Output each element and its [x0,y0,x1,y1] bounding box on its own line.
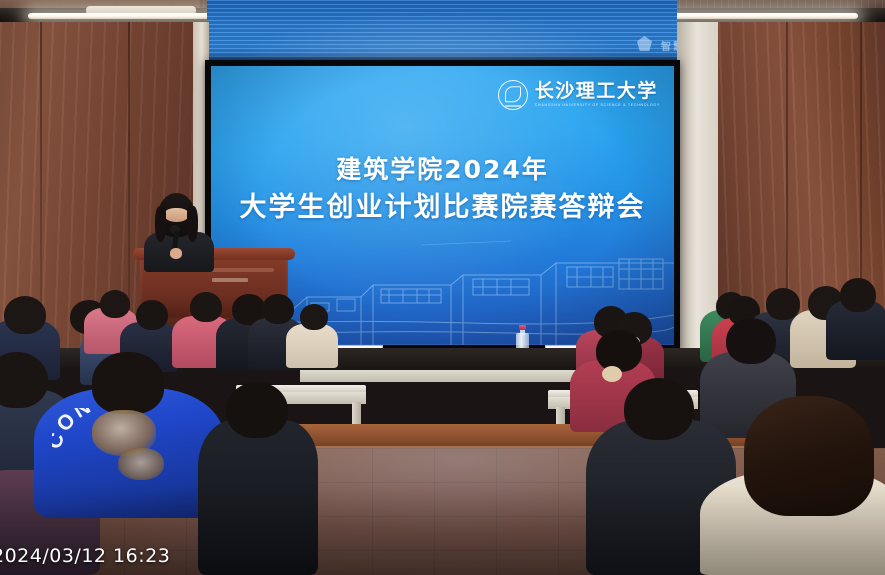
podium-plate [212,278,248,282]
audience-head [4,296,46,334]
university-name-en: CHANGSHA UNIVERSITY OF SCIENCE & TECHNOL… [535,104,660,108]
lecture-hall-photo: 智慧教室 [0,0,885,575]
timestamp-watermark: 2024/03/12 16:23 [0,545,170,567]
presenter-hair-left [155,206,166,242]
slide-title-line1: 建筑学院2024年 [211,154,674,186]
university-logo: 长沙理工大学 CHANGSHA UNIVERSITY OF SCIENCE & … [498,79,660,111]
audience-head [190,292,222,322]
bottle-cap [519,325,526,330]
audience-head [92,352,164,414]
audience-head [726,318,776,364]
audience-body [286,324,338,368]
slide-title-line2: 大学生创业计划比赛院赛答辩会 [211,190,674,225]
audience-head [596,330,642,372]
university-emblem-icon [498,80,528,110]
presenter-hair-right [187,206,198,242]
audience-head [100,290,130,318]
audience-head [136,300,168,330]
audience-body [198,420,318,575]
judges-desk-front [300,368,600,382]
presenter-hand [170,248,182,259]
audience-head [624,378,694,440]
hair-bun [602,366,622,382]
audience-head [226,382,288,438]
university-logo-text: 长沙理工大学 CHANGSHA UNIVERSITY OF SCIENCE & … [535,82,660,108]
audience-head [840,278,876,312]
audience-head [744,396,874,516]
jacket-graphic-2 [118,448,164,480]
wall-sign-emblem-icon [637,36,652,51]
audience-head [262,294,294,324]
audience-head [766,288,800,320]
audience-head [300,304,328,330]
slide-title: 建筑学院2024年 大学生创业计划比赛院赛答辩会 [211,154,674,225]
university-name-cn: 长沙理工大学 [535,82,660,101]
